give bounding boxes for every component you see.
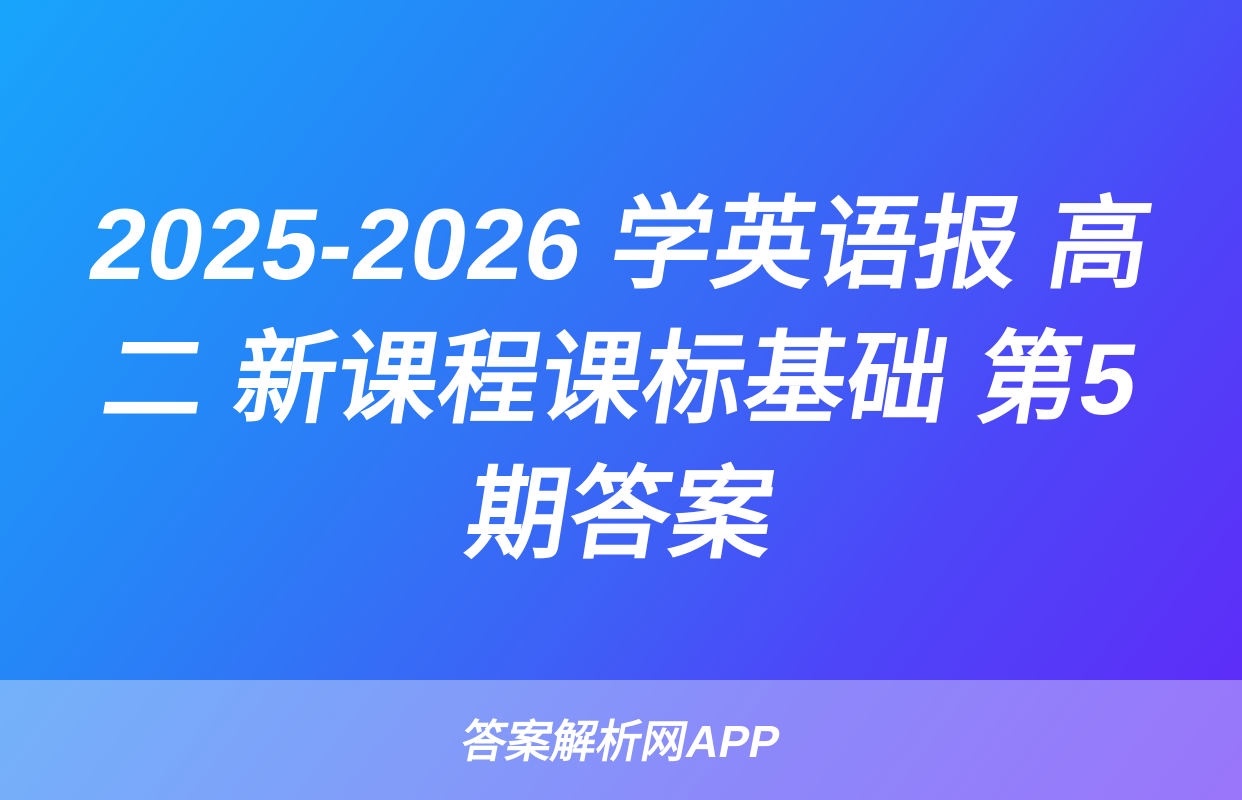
footer-banner: 答案解析网APP: [0, 680, 1242, 800]
app-brand-label: 答案解析网APP: [458, 719, 784, 764]
page-title: 2025-2026 学英语报 高 二 新课程课标基础 第5 期答案: [0, 178, 1242, 583]
title-line-2: 二 新课程课标基础 第5: [37, 313, 1204, 448]
title-line-3: 期答案: [37, 448, 1204, 583]
title-line-1: 2025-2026 学英语报 高: [37, 178, 1204, 313]
poster-canvas: 2025-2026 学英语报 高 二 新课程课标基础 第5 期答案 答案解析网A…: [0, 0, 1242, 800]
